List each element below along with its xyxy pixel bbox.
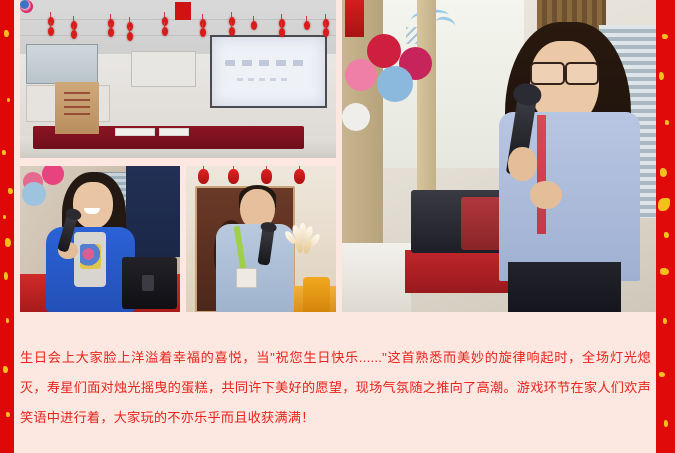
caption-block: 生日会上大家脸上洋溢着幸福的喜悦，当"祝您生日快乐......"这首熟悉而美妙的… [18,333,653,443]
gold-confetti-fleck [662,34,668,39]
red-flag [175,2,191,20]
gold-confetti-fleck [6,412,10,417]
photo-bottom-middle [186,166,336,312]
red-lantern-banner [345,0,364,37]
projector-screen [210,35,328,109]
vase [303,277,330,312]
photo-collage [14,0,656,318]
gold-confetti-fleck [4,30,9,37]
gold-confetti-fleck [7,98,10,102]
whiteboard-middle [131,51,196,88]
gold-confetti-fleck [659,72,664,80]
white-pedestal [342,243,411,312]
gold-confetti-fleck [4,272,8,280]
gold-confetti-fleck [8,188,13,194]
balloon [22,182,46,206]
caption-text: 生日会上大家脸上洋溢着幸福的喜悦，当"祝您生日快乐......"这首熟悉而美妙的… [18,333,653,433]
gold-confetti-fleck [660,168,667,177]
photo-right [342,0,656,312]
photo-top-left [20,0,336,158]
photo-bottom-left [20,166,180,312]
balloon [377,66,413,102]
gold-confetti-fleck [6,318,9,323]
gold-confetti-fleck [665,120,669,125]
window [26,44,98,84]
gold-confetti-fleck [658,198,670,211]
gold-confetti-fleck [664,232,669,238]
papers [159,128,189,136]
right-red-border-strip [656,0,675,453]
gold-confetti-fleck [663,318,667,324]
speaker [122,257,176,310]
gold-confetti-fleck [664,420,668,427]
flower-bouquet [285,219,324,263]
gold-confetti-fleck [3,215,6,219]
eyeglasses [530,62,599,81]
gold-confetti-fleck [3,366,8,373]
lanyard [537,115,546,234]
gold-confetti-fleck [659,372,665,377]
papers [115,128,155,136]
id-badge [236,268,258,288]
gold-confetti-fleck [2,150,6,155]
left-red-border-strip [0,0,14,453]
gold-confetti-fleck [5,238,11,247]
birthday-party-poster: 生日会上大家脸上洋溢着幸福的喜悦，当"祝您生日快乐......"这首熟悉而美妙的… [0,0,675,453]
gold-confetti-fleck [660,268,669,275]
balloon [342,103,370,131]
